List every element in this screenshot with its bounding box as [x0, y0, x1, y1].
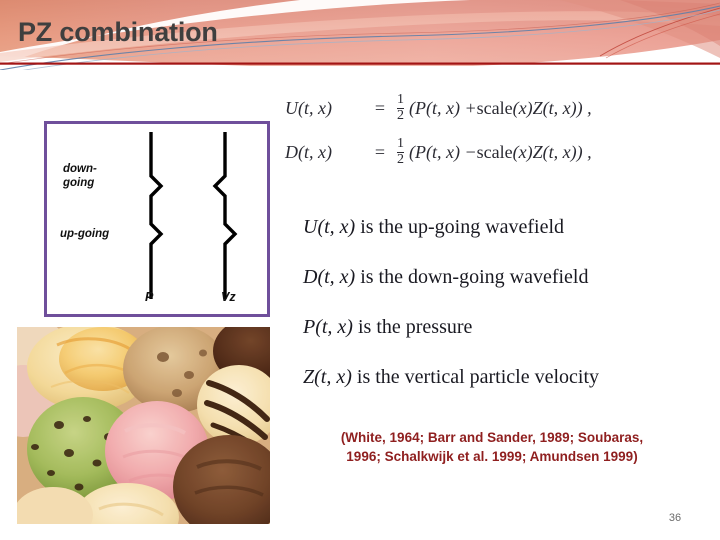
definition-text-d: is the down-going wavefield	[355, 266, 588, 288]
citation-line-2: 1996; Schalkwijk et al. 1999; Amundsen 1…	[283, 447, 701, 466]
equation-rhs-u-fn: scale	[477, 98, 513, 118]
equation-block: U(t, x) = 1 2 (P(t, x) +scale(x)Z(t, x))…	[285, 86, 710, 174]
equation-equals-d: =	[363, 142, 397, 163]
diagram-label-down-going: down- going	[63, 162, 125, 190]
definition-text-u: is the up-going wavefield	[355, 216, 564, 238]
equation-row-d: D(t, x) = 1 2 (P(t, x) −scale(x)Z(t, x))…	[285, 130, 710, 174]
fraction-numerator-d: 1	[397, 137, 404, 152]
equation-fraction-d: 1 2	[397, 137, 404, 167]
equation-lhs-u: U(t, x)	[285, 98, 363, 119]
definition-symbol-z: Z(t, x)	[303, 366, 352, 388]
equation-rhs-d-fn: scale	[477, 142, 513, 162]
definition-row-z: Z(t, x) is the vertical particle velocit…	[303, 352, 713, 402]
definition-row-d: D(t, x) is the down-going wavefield	[303, 252, 713, 302]
presentation-slide: PZ combination down- going up-going P Vz	[0, 0, 720, 540]
equation-row-u: U(t, x) = 1 2 (P(t, x) +scale(x)Z(t, x))…	[285, 86, 710, 130]
definition-row-p: P(t, x) is the pressure	[303, 302, 713, 352]
equation-fraction-u: 1 2	[397, 93, 404, 123]
diagram-label-p: P	[145, 290, 153, 304]
slide-number: 36	[660, 512, 690, 524]
definition-symbol-p: P(t, x)	[303, 316, 353, 338]
fraction-denominator-d: 2	[397, 152, 404, 168]
fraction-denominator-u: 2	[397, 108, 404, 124]
equation-rhs-u-open: (P(t, x) +	[409, 98, 477, 118]
definition-text-z: is the vertical particle velocity	[352, 366, 599, 388]
definition-row-u: U(t, x) is the up-going wavefield	[303, 202, 713, 252]
down-going-line1: down-	[63, 163, 97, 175]
trace-p-wiggle	[151, 132, 161, 299]
wiggle-trace-svg	[47, 124, 267, 314]
diagram-label-vz: Vz	[221, 290, 236, 304]
definition-symbol-d: D(t, x)	[303, 266, 355, 288]
wavefield-diagram-box: down- going up-going P Vz	[44, 121, 270, 317]
diagram-label-up-going: up-going	[60, 228, 109, 240]
citation-line-1: (White, 1964; Barr and Sander, 1989; Sou…	[283, 428, 701, 447]
definition-text-p: is the pressure	[353, 316, 472, 338]
ice-cream-photo	[17, 327, 270, 524]
equation-equals-u: =	[363, 98, 397, 119]
photo-warm-tint	[17, 327, 270, 524]
definition-symbol-u: U(t, x)	[303, 216, 355, 238]
down-going-line2: going	[63, 177, 94, 189]
equation-rhs-u-close: (x)Z(t, x)) ,	[513, 98, 592, 118]
equation-rhs-d-close: (x)Z(t, x)) ,	[513, 142, 592, 162]
equation-rhs-d: (P(t, x) −scale(x)Z(t, x)) ,	[409, 142, 592, 163]
citation-text: (White, 1964; Barr and Sander, 1989; Sou…	[283, 428, 701, 466]
trace-vz-wiggle	[215, 132, 235, 299]
equation-rhs-d-open: (P(t, x) −	[409, 142, 477, 162]
banner-bottom-rule	[0, 63, 720, 65]
definition-list: U(t, x) is the up-going wavefield D(t, x…	[303, 202, 713, 402]
page-title: PZ combination	[18, 17, 218, 48]
fraction-numerator-u: 1	[397, 93, 404, 108]
equation-lhs-d: D(t, x)	[285, 142, 363, 163]
equation-rhs-u: (P(t, x) +scale(x)Z(t, x)) ,	[409, 98, 592, 119]
